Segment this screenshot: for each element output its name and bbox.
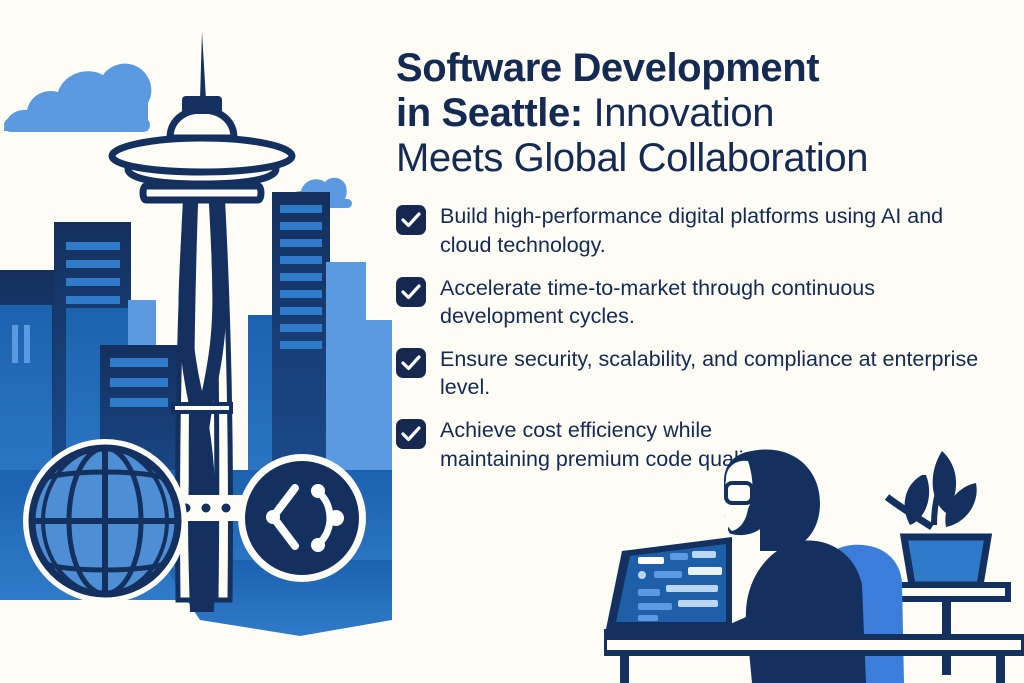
potted-plant-icon <box>887 451 988 585</box>
check-icon <box>396 348 426 378</box>
title-line2-bold: in Seattle: <box>396 91 583 135</box>
list-item-label: Accelerate time-to-market through contin… <box>440 274 996 331</box>
title-line1-bold: Software Development <box>396 46 819 90</box>
check-icon <box>396 419 426 449</box>
list-item: Accelerate time-to-market through contin… <box>396 274 996 331</box>
content-column: Software Development in Seattle: Innovat… <box>396 46 996 487</box>
list-item-label: Ensure security, scalability, and compli… <box>440 345 996 402</box>
check-icon <box>396 205 426 235</box>
laptop-icon <box>604 537 748 641</box>
code-brackets-icon <box>238 454 366 582</box>
check-icon <box>396 277 426 307</box>
list-item-label: Build high-performance digital platforms… <box>440 202 996 259</box>
list-item: Build high-performance digital platforms… <box>396 202 996 259</box>
title-line3-regular: Meets Global Collaboration <box>396 136 868 180</box>
developer-scene <box>604 433 1024 683</box>
cloud-icon <box>4 64 151 132</box>
globe-icon <box>23 439 187 603</box>
page-title: Software Development in Seattle: Innovat… <box>396 46 996 180</box>
title-line2-regular: Innovation <box>583 91 774 135</box>
side-table <box>892 585 1008 675</box>
seattle-illustration <box>0 0 392 683</box>
list-item: Ensure security, scalability, and compli… <box>396 345 996 402</box>
infographic-canvas: Software Development in Seattle: Innovat… <box>0 0 1024 683</box>
